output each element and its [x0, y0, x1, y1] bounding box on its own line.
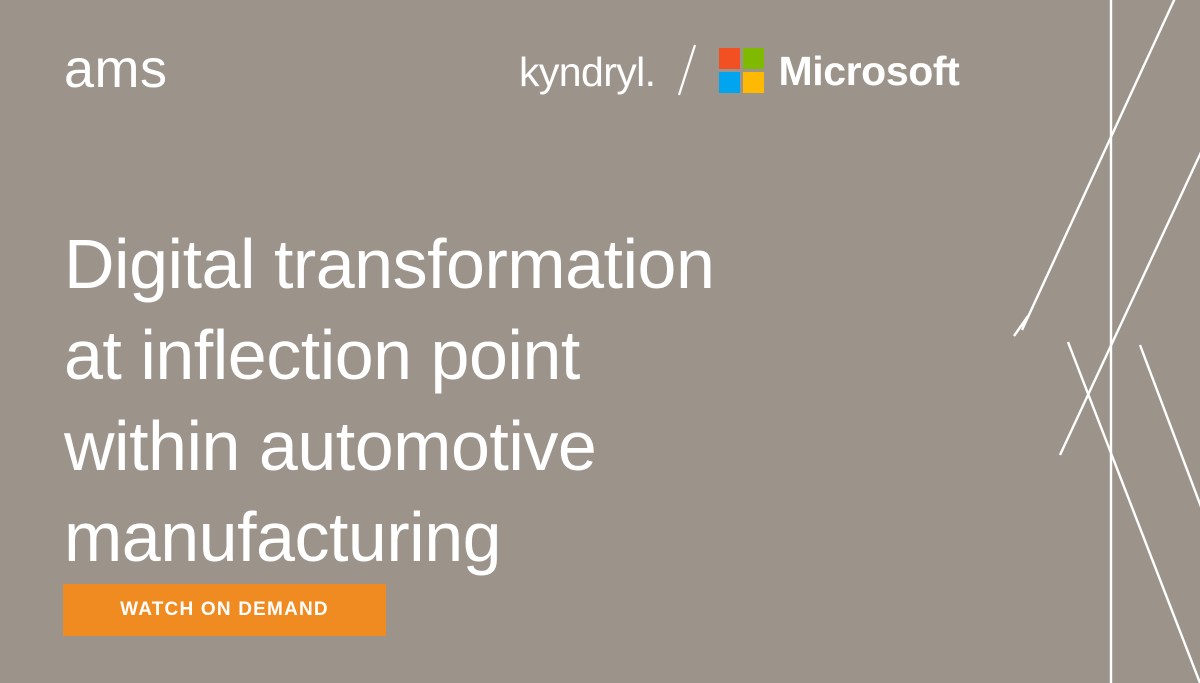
- lockup-divider-slash: [673, 42, 703, 98]
- microsoft-wordmark: Microsoft: [778, 51, 959, 92]
- decor-diagonal-4: [1140, 345, 1200, 512]
- microsoft-green-square: [743, 48, 764, 69]
- headline-line-3: within automotive: [64, 401, 884, 492]
- microsoft-blue-square: [719, 72, 740, 93]
- decor-diagonal-5: [1014, 316, 1028, 336]
- headline: Digital transformation at inflection poi…: [64, 219, 884, 583]
- partner-lockup: kyndryl. Microsoft: [519, 40, 959, 100]
- ams-logo: ams: [64, 42, 168, 96]
- decor-diagonal-3: [1068, 342, 1200, 683]
- watch-on-demand-button[interactable]: WATCH ON DEMAND: [63, 584, 386, 636]
- microsoft-yellow-square: [743, 72, 764, 93]
- logo-bar: ams kyndryl. Microsoft: [0, 0, 1200, 140]
- decor-diagonal-2: [1060, 148, 1200, 455]
- promo-banner: ams kyndryl. Microsoft Digital transform…: [0, 0, 1200, 683]
- microsoft-logo-squares: [719, 48, 764, 93]
- headline-line-1: Digital transformation: [64, 219, 884, 310]
- headline-line-4: manufacturing: [64, 492, 884, 583]
- kyndryl-logo-dot: .: [645, 49, 656, 95]
- kyndryl-logo: kyndryl.: [519, 52, 655, 93]
- kyndryl-logo-text: kyndryl: [519, 49, 645, 95]
- headline-line-2: at inflection point: [64, 310, 884, 401]
- microsoft-red-square: [719, 48, 740, 69]
